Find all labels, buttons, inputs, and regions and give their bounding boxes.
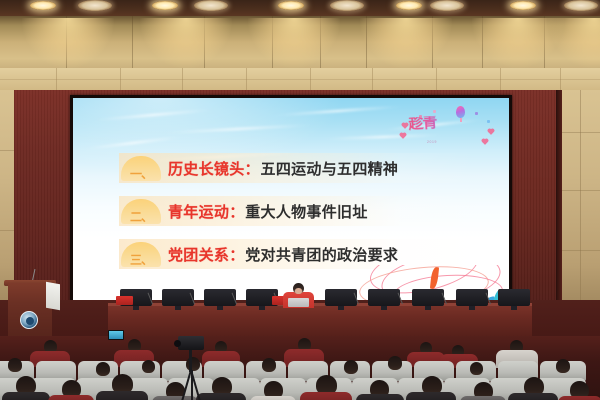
wall-light-pool [472, 18, 564, 68]
video-camera-icon [178, 336, 204, 350]
calligraphy-line2: 来言开 [435, 126, 487, 142]
ceiling-light-panel [330, 0, 364, 11]
item-body-text: 党对共青团的政治要求 [245, 244, 398, 265]
camera-preview-monitor [108, 330, 124, 340]
ceiling-spotlight [152, 1, 178, 10]
heart-icon [400, 133, 406, 139]
logo-subtitle: 2019 [427, 140, 437, 144]
table-monitor [498, 289, 530, 306]
list-item[interactable]: 一、 历史长镜头 ： 五四运动与五四精神 [119, 153, 479, 183]
upper-wall [0, 16, 600, 68]
item-number-badge: 二、 [121, 199, 161, 224]
slide-logo: 趁青 来言开 2019 [399, 106, 499, 150]
presenter-laptop [288, 298, 309, 307]
name-plate [116, 296, 133, 305]
item-number-badge: 一、 [121, 156, 161, 181]
ceiling-light-panel [78, 0, 112, 11]
ceiling-spotlight [278, 1, 304, 10]
ceiling-light-panel [194, 0, 228, 11]
wall-light-pool [248, 18, 340, 68]
institution-seal-emblem [20, 311, 38, 329]
item-keyword: 历史长镜头 [168, 158, 245, 179]
camera-lens-icon [174, 340, 181, 347]
projection-screen-frame: 趁青 来言开 2019 一、 历史长镜头 [70, 95, 512, 320]
podium-paper-sheet [46, 282, 60, 310]
wall-light-pool [140, 18, 232, 68]
table-monitor [162, 289, 194, 306]
item-keyword: 青年运动 [168, 201, 229, 222]
wall-light-pool [548, 18, 600, 68]
calligraphy-line1: 趁青 [408, 115, 437, 133]
item-colon: ： [229, 201, 244, 222]
seated-presenter-face [295, 288, 302, 294]
table-monitor [325, 289, 357, 306]
wall-light-pool [22, 18, 114, 68]
item-body-text: 五四运动与五四精神 [261, 158, 399, 179]
item-keyword: 党团关系 [168, 244, 229, 265]
list-item[interactable]: 二、 青年运动 ： 重大人物事件旧址 [119, 196, 479, 226]
item-colon: ： [245, 158, 260, 179]
table-monitor [368, 289, 400, 306]
wall-light-pool [360, 18, 452, 68]
slide-outline-list: 一、 历史长镜头 ： 五四运动与五四精神 二、 青年运动 ： 重大人物事件旧址 [119, 153, 479, 282]
presentation-slide[interactable]: 趁青 来言开 2019 一、 历史长镜头 [73, 98, 509, 317]
item-number-label: 二、 [130, 211, 152, 223]
lecture-hall-photo: 趁青 来言开 2019 一、 历史长镜头 [0, 0, 600, 400]
item-number-label: 三、 [130, 254, 152, 266]
table-monitor [456, 289, 488, 306]
ceiling-light-panel [430, 0, 464, 11]
table-monitor [412, 289, 444, 306]
heart-icon [488, 129, 494, 135]
audience-area [0, 336, 600, 400]
ceiling-spotlight [510, 1, 536, 10]
item-number-label: 一、 [130, 168, 152, 180]
ceiling [0, 0, 600, 16]
stone-band [0, 68, 600, 90]
ceiling-light-panel [564, 0, 598, 11]
ceiling-spotlight [396, 1, 422, 10]
heart-icon [482, 139, 488, 145]
item-colon: ： [229, 244, 244, 265]
item-number-badge: 三、 [121, 242, 161, 267]
item-body-text: 重大人物事件旧址 [245, 201, 367, 222]
tripod-leg [191, 370, 193, 400]
table-monitor [204, 289, 236, 306]
heart-icon [402, 123, 408, 129]
ceiling-spotlight [30, 1, 56, 10]
